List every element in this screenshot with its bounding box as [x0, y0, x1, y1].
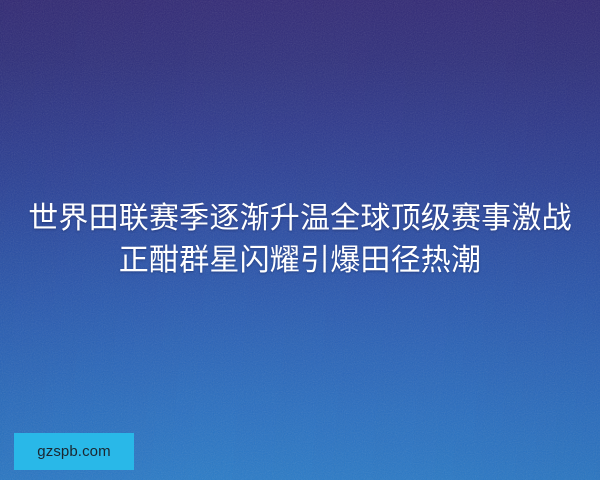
headline-line-2: 正酣群星闪耀引爆田径热潮 — [0, 240, 600, 282]
banner-canvas: 世界田联赛季逐渐升温全球顶级赛事激战 正酣群星闪耀引爆田径热潮 gzspb.co… — [0, 0, 600, 480]
headline: 世界田联赛季逐渐升温全球顶级赛事激战 正酣群星闪耀引爆田径热潮 — [0, 198, 600, 282]
watermark-badge: gzspb.com — [14, 433, 134, 470]
headline-line-1: 世界田联赛季逐渐升温全球顶级赛事激战 — [0, 198, 600, 240]
watermark-text: gzspb.com — [37, 443, 110, 460]
